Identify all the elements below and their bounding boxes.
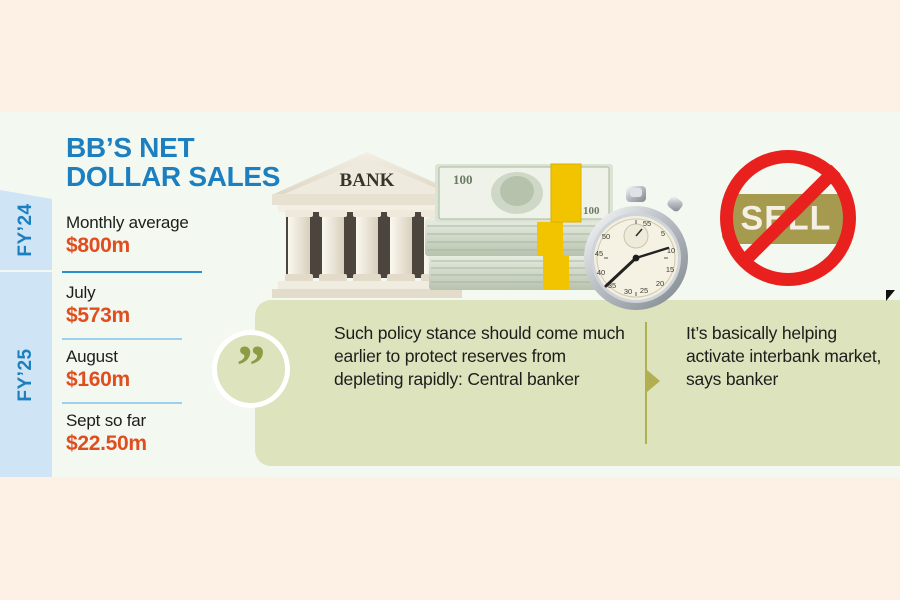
stat-value: $800m (66, 234, 246, 258)
svg-text:40: 40 (597, 268, 605, 277)
section-divider (62, 402, 182, 404)
bank-label: BANK (340, 170, 395, 191)
svg-text:25: 25 (640, 286, 648, 295)
fiscal-tab-fy25: FY’25 (0, 272, 52, 477)
stat-label: Sept so far (66, 412, 246, 431)
section-divider (62, 338, 182, 340)
svg-text:15: 15 (666, 265, 674, 274)
stat-label: Monthly average (66, 214, 246, 233)
svg-text:20: 20 (656, 279, 664, 288)
quote-text-primary: Such policy stance should come much earl… (334, 322, 634, 390)
svg-text:55: 55 (643, 219, 651, 228)
fiscal-tab-fy24: FY’24 (0, 190, 52, 270)
stat-row: July $573m (66, 284, 246, 327)
stat-value: $22.50m (66, 432, 246, 456)
svg-text:30: 30 (624, 287, 632, 296)
fiscal-tab-fy25-label: FY’25 (15, 348, 37, 401)
no-sell-sign: SELL (706, 140, 870, 298)
quote-mark-badge: ” (212, 330, 290, 408)
quote-divider-arrow-icon (645, 322, 647, 444)
page-title-line1: BB’S NET (66, 132, 194, 163)
fiscal-tab-fy24-label: FY’24 (15, 203, 37, 256)
infographic-canvas: FY’24 FY’25 BB’S NET DOLLAR SALES Monthl… (0, 0, 900, 600)
svg-text:45: 45 (595, 249, 603, 258)
stopwatch-illustration: 55 5 10 15 20 25 30 35 40 45 50 (572, 186, 704, 314)
svg-text:5: 5 (661, 229, 665, 238)
quotation-mark-icon: ” (217, 338, 285, 396)
svg-text:50: 50 (602, 232, 610, 241)
stat-row: Monthly average $800m (66, 214, 246, 257)
section-divider-primary (62, 271, 202, 273)
mouse-cursor (886, 290, 895, 301)
stat-value: $573m (66, 304, 246, 328)
stat-label: July (66, 284, 246, 303)
svg-text:100: 100 (453, 172, 473, 187)
stat-row: Sept so far $22.50m (66, 412, 246, 455)
quote-text-secondary: It’s basically helping activate interban… (686, 322, 886, 390)
